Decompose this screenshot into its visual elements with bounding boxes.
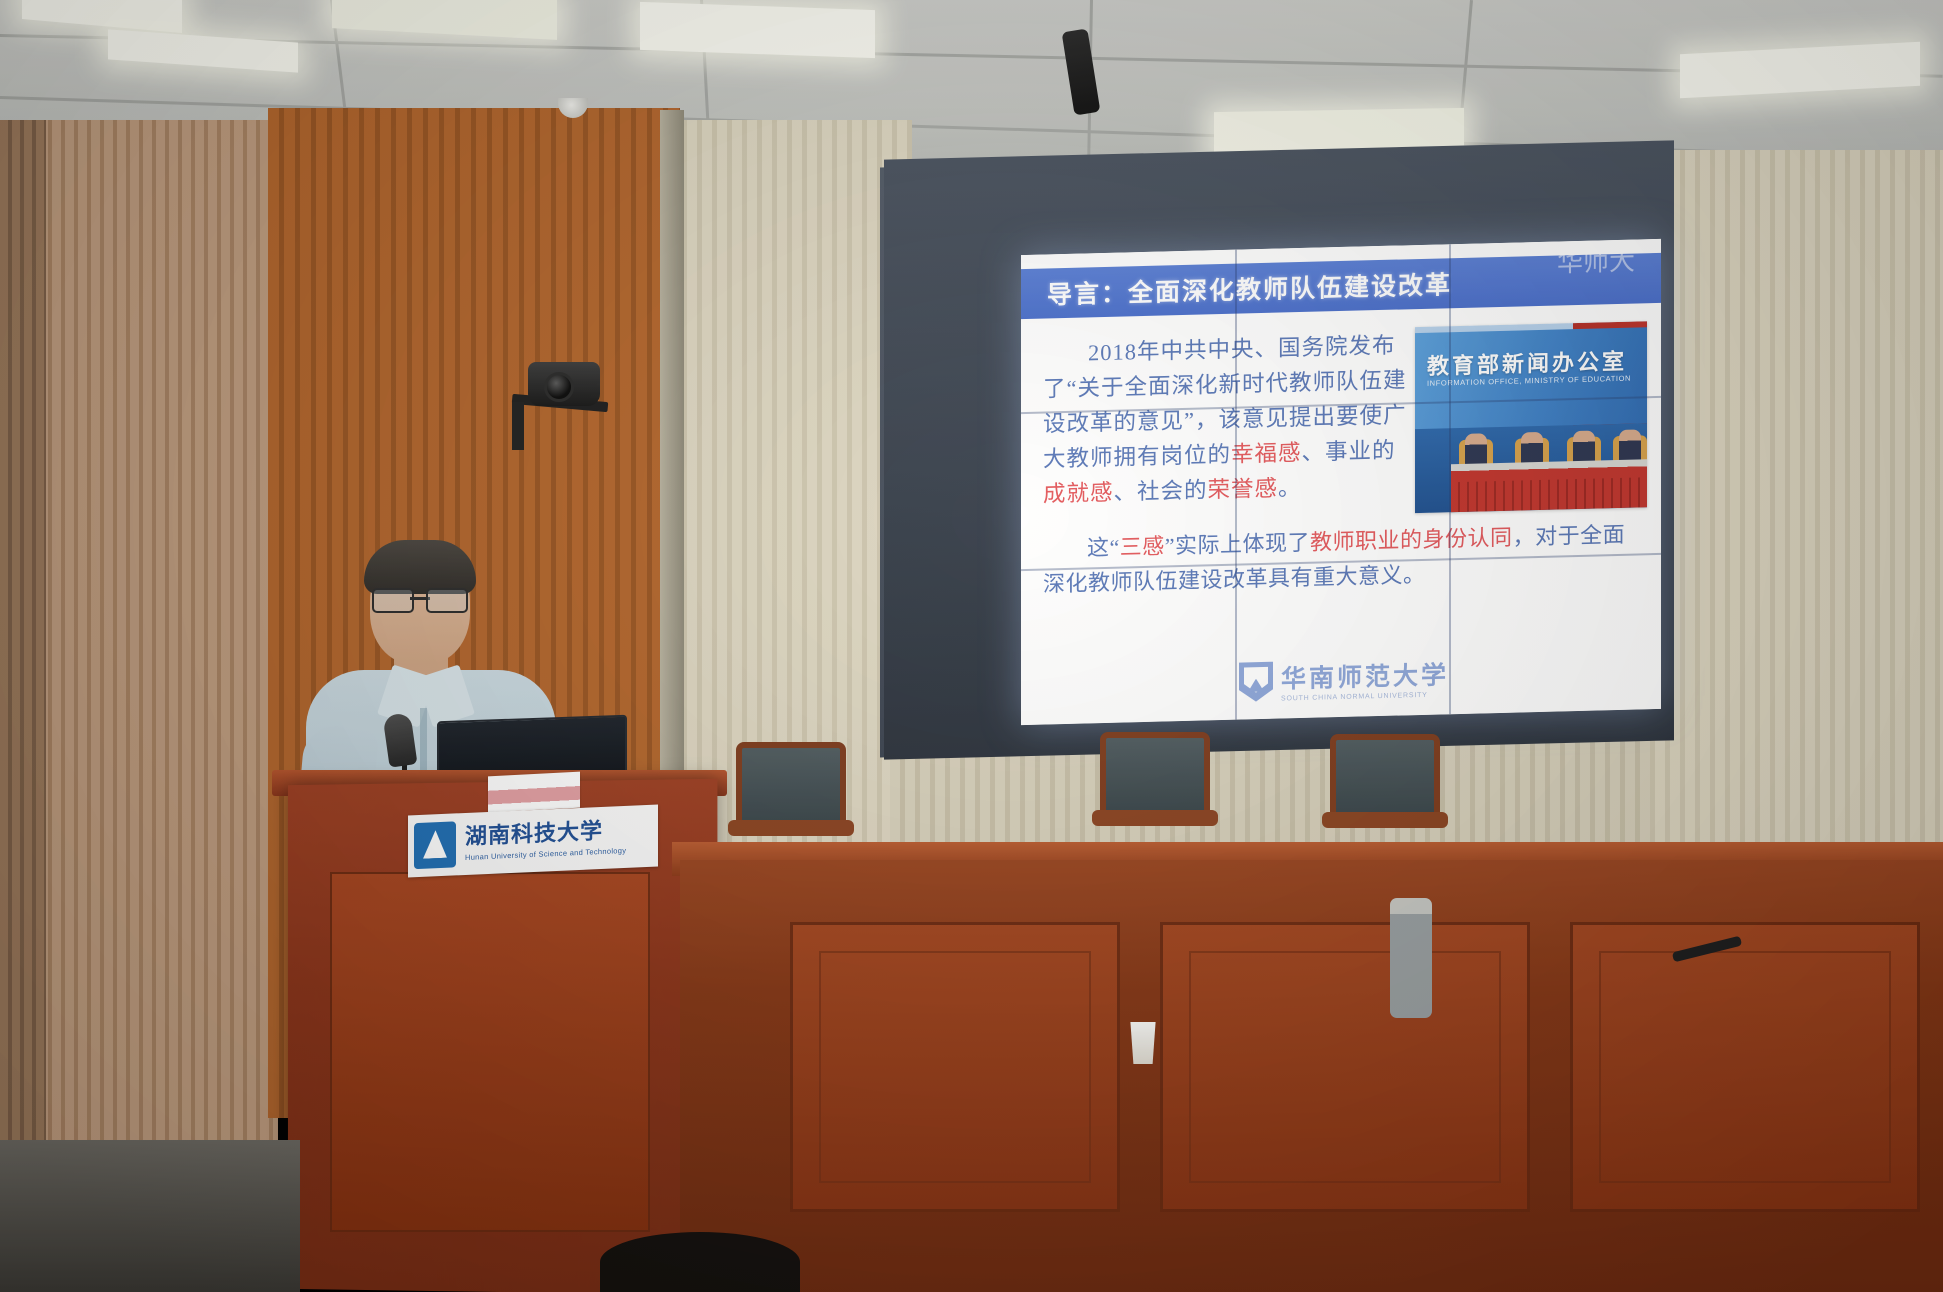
- led-video-wall[interactable]: 导言：全面深化教师队伍建设改革 华师大 2018年中共中央、国务院发布了“关于全…: [1021, 239, 1661, 725]
- ceiling-light-panel: [640, 2, 875, 58]
- floor: [0, 1140, 300, 1292]
- stage-panel: [1160, 922, 1530, 1212]
- photo-table: [1451, 459, 1647, 512]
- university-emblem-icon: [414, 821, 456, 869]
- slide-footer-logo: 华南师范大学 SOUTH CHINA NORMAL UNIVERSITY: [1239, 655, 1449, 703]
- slide-title-text: 导言：全面深化教师队伍建设改革: [1047, 265, 1452, 311]
- university-crest-icon: [1239, 661, 1273, 702]
- podium-plate-en: Hunan University of Science and Technolo…: [465, 846, 626, 862]
- slide-text-run: 、事业的: [1302, 438, 1396, 465]
- water-bottle-icon[interactable]: [1390, 898, 1432, 1018]
- podium-nameplate: 湖南科技大学 Hunan University of Science and T…: [408, 805, 658, 878]
- stage-panel: [1570, 922, 1920, 1212]
- slide-paragraph-2: 这“三感”实际上体现了教师职业的身份认同，对于全面深化教师队伍建设改革具有重大意…: [1043, 516, 1643, 601]
- presenter-hair: [364, 540, 476, 594]
- foreground-object: [600, 1232, 800, 1292]
- slide-inset-photo: 教育部新闻办公室 INFORMATION OFFICE, MINISTRY OF…: [1415, 321, 1647, 513]
- slide-text-run: 、社会的: [1114, 477, 1208, 504]
- slide-logo-cn: 华南师范大学: [1281, 662, 1449, 693]
- photo-banner: 教育部新闻办公室 INFORMATION OFFICE, MINISTRY OF…: [1415, 327, 1647, 429]
- podium-plate-cn: 湖南科技大学: [465, 818, 603, 849]
- documents-icon: [488, 772, 580, 813]
- slide-logo-en: SOUTH CHINA NORMAL UNIVERSITY: [1281, 691, 1449, 702]
- presentation-slide: 导言：全面深化教师队伍建设改革 华师大 2018年中共中央、国务院发布了“关于全…: [1021, 239, 1661, 725]
- lecture-hall-scene: 导言：全面深化教师队伍建设改革 华师大 2018年中共中央、国务院发布了“关于全…: [0, 0, 1943, 1292]
- slide-text-run: 教师职业的身份认同: [1310, 525, 1513, 555]
- wall-left-edge: [0, 120, 46, 1180]
- slide-text-run: ”实际上体现了: [1165, 530, 1310, 559]
- glasses-icon: [372, 588, 468, 610]
- camera-mount-post: [512, 402, 524, 450]
- slide-text-run: 荣誉感: [1208, 476, 1279, 503]
- slide-title-watermark: 华师大: [1557, 250, 1635, 277]
- slide-paragraph-1: 2018年中共中央、国务院发布了“关于全面深化新时代教师队伍建设改革的意见”，该…: [1043, 327, 1415, 511]
- slide-text-run: 三感: [1120, 533, 1165, 559]
- camera-lens-icon: [544, 372, 574, 402]
- podium-front-panel: [330, 872, 650, 1232]
- slide-text-run: 成就感: [1043, 480, 1114, 507]
- slide-body: 2018年中共中央、国务院发布了“关于全面深化新时代教师队伍建设改革的意见”，该…: [1021, 303, 1661, 602]
- slide-text-run: 。: [1278, 475, 1302, 501]
- slide-text-run: 这“: [1087, 535, 1120, 561]
- stage-panel: [790, 922, 1120, 1212]
- slide-text-run: 幸福感: [1231, 440, 1302, 467]
